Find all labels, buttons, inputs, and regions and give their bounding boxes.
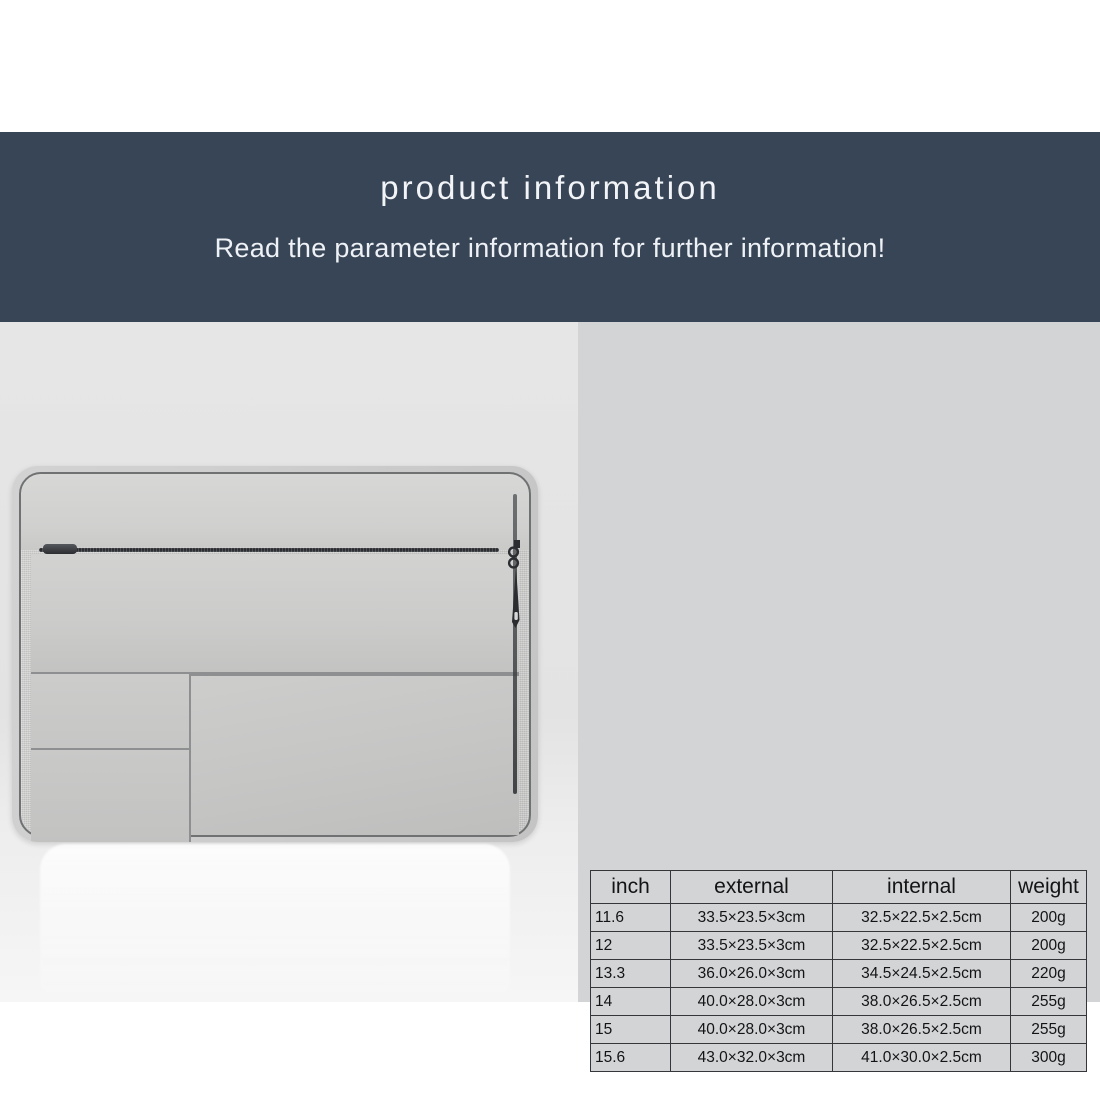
cell-inch: 12 — [591, 932, 671, 960]
sleeve-trim — [19, 472, 531, 837]
cell-internal: 32.5×22.5×2.5cm — [833, 932, 1011, 960]
table-row: 15.6 43.0×32.0×3cm 41.0×30.0×2.5cm 300g — [591, 1044, 1087, 1072]
table-row: 11.6 33.5×23.5×3cm 32.5×22.5×2.5cm 200g — [591, 904, 1087, 932]
product-reflection — [40, 844, 510, 994]
zipper-slider — [43, 544, 77, 554]
cell-weight: 200g — [1011, 904, 1087, 932]
page-title: product information — [0, 168, 1100, 208]
cell-external: 33.5×23.5×3cm — [671, 932, 833, 960]
content-area: inch external internal weight 11.6 33.5×… — [0, 322, 1100, 1002]
cell-inch: 11.6 — [591, 904, 671, 932]
left-small-pocket-lower — [31, 750, 191, 842]
spec-table-container: inch external internal weight 11.6 33.5×… — [590, 870, 1086, 1072]
front-pocket-band — [31, 554, 519, 674]
cell-external: 36.0×26.0×3cm — [671, 960, 833, 988]
table-row: 14 40.0×28.0×3cm 38.0×26.5×2.5cm 255g — [591, 988, 1087, 1016]
product-information-page: product information Read the parameter i… — [0, 0, 1100, 1100]
cell-internal: 41.0×30.0×2.5cm — [833, 1044, 1011, 1072]
laptop-sleeve-image — [12, 466, 538, 842]
header-banner: product information Read the parameter i… — [0, 132, 1100, 322]
photo-stage — [0, 322, 578, 1002]
table-row: 12 33.5×23.5×3cm 32.5×22.5×2.5cm 200g — [591, 932, 1087, 960]
cell-inch: 15.6 — [591, 1044, 671, 1072]
column-header-internal: internal — [833, 871, 1011, 904]
cell-external: 43.0×32.0×3cm — [671, 1044, 833, 1072]
specification-table: inch external internal weight 11.6 33.5×… — [590, 870, 1087, 1072]
cell-weight: 255g — [1011, 1016, 1087, 1044]
zipper-teeth — [39, 547, 499, 553]
cell-external: 33.5×23.5×3cm — [671, 904, 833, 932]
product-image-panel — [0, 322, 578, 1002]
column-header-weight: weight — [1011, 871, 1087, 904]
table-row: 13.3 36.0×26.0×3cm 34.5×24.5×2.5cm 220g — [591, 960, 1087, 988]
cell-inch: 13.3 — [591, 960, 671, 988]
column-header-external: external — [671, 871, 833, 904]
left-small-pocket-upper — [31, 674, 191, 750]
sleeve-top-flap — [21, 474, 529, 550]
table-row: 15 40.0×28.0×3cm 38.0×26.5×2.5cm 255g — [591, 1016, 1087, 1044]
cell-inch: 15 — [591, 1016, 671, 1044]
cell-weight: 220g — [1011, 960, 1087, 988]
column-header-inch: inch — [591, 871, 671, 904]
page-subtitle: Read the parameter information for furth… — [0, 231, 1100, 265]
cell-internal: 34.5×24.5×2.5cm — [833, 960, 1011, 988]
cell-internal: 38.0×26.5×2.5cm — [833, 988, 1011, 1016]
cell-internal: 38.0×26.5×2.5cm — [833, 1016, 1011, 1044]
large-front-pocket — [189, 674, 519, 835]
cell-inch: 14 — [591, 988, 671, 1016]
cell-external: 40.0×28.0×3cm — [671, 988, 833, 1016]
side-zipper-track — [513, 494, 517, 794]
cell-weight: 255g — [1011, 988, 1087, 1016]
cell-weight: 300g — [1011, 1044, 1087, 1072]
cell-weight: 200g — [1011, 932, 1087, 960]
cell-internal: 32.5×22.5×2.5cm — [833, 904, 1011, 932]
cell-external: 40.0×28.0×3cm — [671, 1016, 833, 1044]
table-header-row: inch external internal weight — [591, 871, 1087, 904]
